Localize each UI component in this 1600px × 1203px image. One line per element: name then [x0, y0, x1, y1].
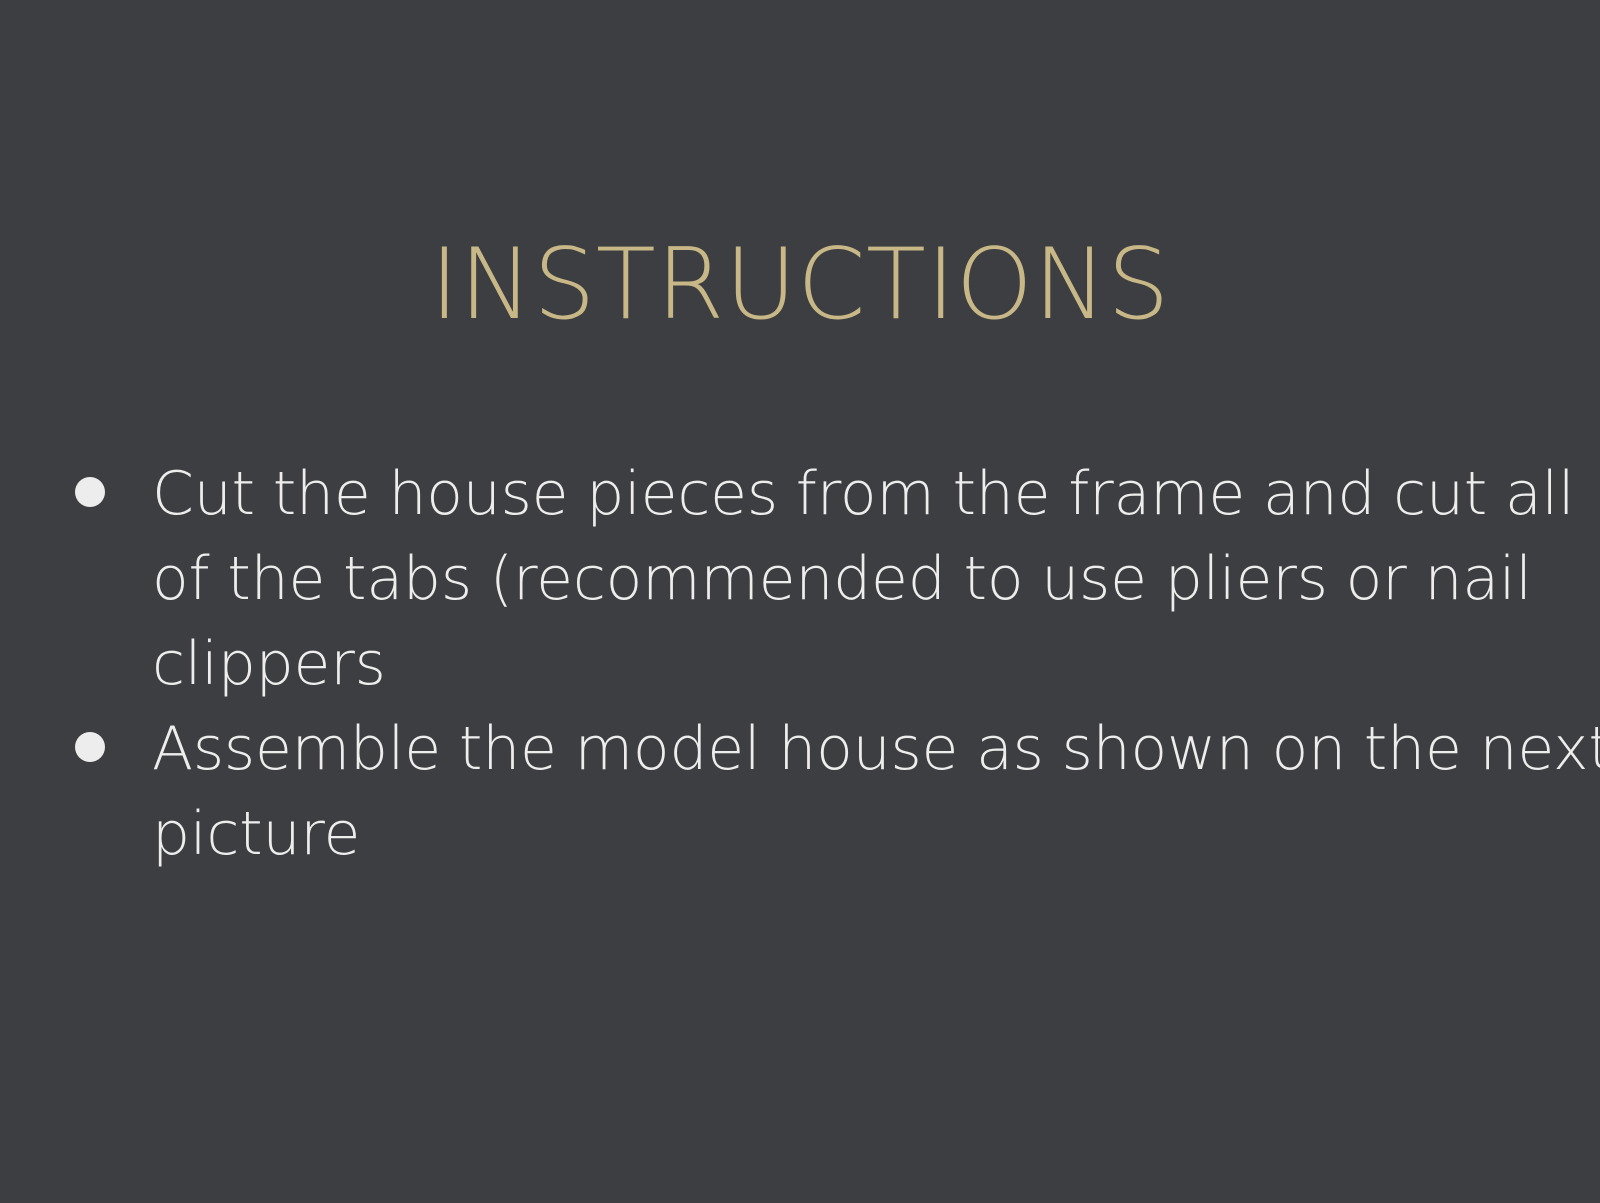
list-item-line: Assemble the model house as shown on the… [152, 707, 1600, 792]
list-item-line: clippers [152, 622, 1574, 707]
list-item-text: Cut the house pieces from the frame and … [152, 452, 1574, 707]
bullet-list: Cut the house pieces from the frame and … [66, 452, 1536, 877]
page-title: INSTRUCTIONS [0, 236, 1600, 334]
list-item-text: Assemble the model house as shown on the… [152, 707, 1600, 877]
bullet-dot-icon [66, 452, 152, 537]
list-item-line: picture [152, 792, 1600, 877]
list-item-line: Cut the house pieces from the frame and … [152, 452, 1574, 537]
list-item-line: of the tabs (recommended to use pliers o… [152, 537, 1574, 622]
list-item[interactable]: Assemble the model house as shown on the… [66, 707, 1536, 877]
list-item[interactable]: Cut the house pieces from the frame and … [66, 452, 1536, 707]
presentation-slide: INSTRUCTIONS Cut the house pieces from t… [0, 0, 1600, 1203]
bullet-dot-icon [66, 707, 152, 792]
